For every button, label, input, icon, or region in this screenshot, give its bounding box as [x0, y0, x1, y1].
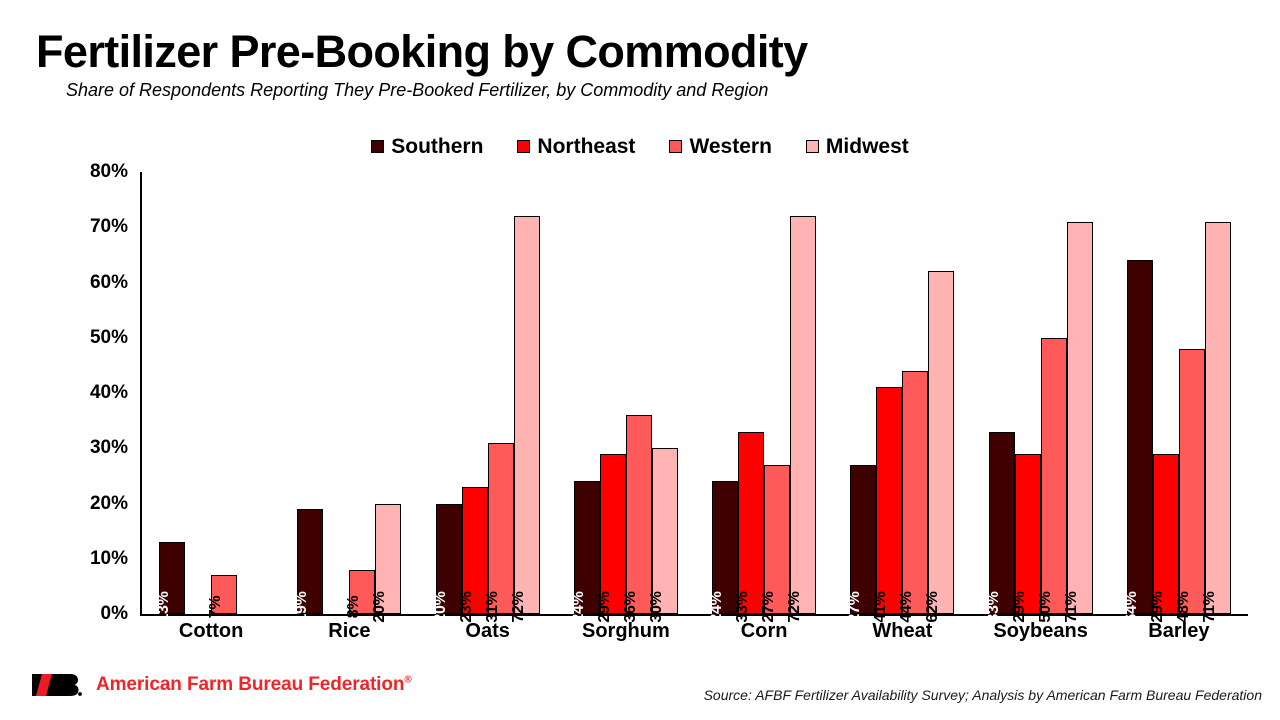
bar-barley-northeast[interactable]: 29% [1153, 454, 1179, 614]
registered-mark: ® [404, 675, 411, 686]
bar-slot: 27% [764, 172, 790, 614]
legend-item-midwest[interactable]: Midwest [806, 136, 909, 157]
y-axis-tick-label: 40% [90, 382, 128, 404]
bar-oats-western[interactable]: 31% [488, 443, 514, 614]
bar-slot: 33% [738, 172, 764, 614]
bar-soybeans-western[interactable]: 50% [1041, 338, 1067, 614]
bar-wheat-midwest[interactable]: 62% [928, 271, 954, 614]
bar-value-label: 64% [1124, 591, 1140, 622]
bar-slot: 62% [928, 172, 954, 614]
x-axis-tick-barley: Barley [1110, 620, 1248, 643]
bar-value-label: 24% [571, 591, 587, 622]
bar-value-label: 29% [1150, 591, 1166, 622]
x-axis-tick-wheat: Wheat [833, 620, 971, 643]
bar-slot: 24% [574, 172, 600, 614]
bar-slot: 29% [600, 172, 626, 614]
bar-barley-midwest[interactable]: 71% [1205, 222, 1231, 614]
bar-slot: 7% [211, 172, 237, 614]
bar-group-cotton: 13%7% [142, 172, 280, 614]
bar-slot: 19% [297, 172, 323, 614]
bar-value-label: 29% [1012, 591, 1028, 622]
x-axis-tick-cotton: Cotton [142, 620, 280, 643]
y-axis-tick-label: 20% [90, 493, 128, 515]
chart-subtitle: Share of Respondents Reporting They Pre-… [66, 80, 768, 101]
bar-soybeans-midwest[interactable]: 71% [1067, 222, 1093, 614]
legend-label: Northeast [537, 136, 635, 157]
x-axis: CottonRiceOatsSorghumCornWheatSoybeansBa… [142, 620, 1248, 643]
bar-slot: 71% [1205, 172, 1231, 614]
bar-value-label: 71% [1202, 591, 1218, 622]
x-axis-tick-soybeans: Soybeans [972, 620, 1110, 643]
source-note: Source: AFBF Fertilizer Availability Sur… [704, 687, 1262, 703]
bar-value-label: 50% [1038, 591, 1054, 622]
bar-group-barley: 64%29%48%71% [1110, 172, 1248, 614]
x-axis-tick-corn: Corn [695, 620, 833, 643]
bar-slot: 20% [375, 172, 401, 614]
y-axis-tick-label: 70% [90, 216, 128, 238]
legend-label: Southern [391, 136, 483, 157]
bar-slot: 44% [902, 172, 928, 614]
bar-group-corn: 24%33%27%72% [695, 172, 833, 614]
bar-group-rice: 19%8%20% [280, 172, 418, 614]
bar-slot: 64% [1127, 172, 1153, 614]
y-axis-tick-label: 0% [101, 603, 128, 625]
bar-value-label: 27% [847, 591, 863, 622]
legend-item-northeast[interactable]: Northeast [517, 136, 635, 157]
bar-value-label: 31% [485, 591, 501, 622]
bar-value-label: 7% [208, 596, 224, 619]
y-axis: 80%70%60%50%40%30%20%10%0% [0, 172, 140, 616]
bar-slot: 24% [712, 172, 738, 614]
y-axis-tick-label: 80% [90, 161, 128, 183]
bar-value-label: 71% [1064, 591, 1080, 622]
bar-soybeans-northeast[interactable]: 29% [1015, 454, 1041, 614]
bar-rice-southern[interactable]: 19% [297, 509, 323, 614]
bar-cotton-western[interactable]: 7% [211, 575, 237, 614]
chart-legend: SouthernNortheastWesternMidwest [0, 136, 1280, 157]
bar-slot: 71% [1067, 172, 1093, 614]
bar-soybeans-southern[interactable]: 33% [989, 432, 1015, 614]
legend-label: Midwest [826, 136, 909, 157]
legend-swatch-icon [517, 140, 530, 153]
bar-sorghum-western[interactable]: 36% [626, 415, 652, 614]
bar-value-label: 72% [787, 591, 803, 622]
bars-area: 13%7%19%8%20%20%23%31%72%24%29%36%30%24%… [142, 172, 1248, 614]
bar-rice-midwest[interactable]: 20% [375, 504, 401, 615]
legend-swatch-icon [669, 140, 682, 153]
bar-value-label: 72% [511, 591, 527, 622]
bar-slot: 33% [989, 172, 1015, 614]
bar-slot: 72% [790, 172, 816, 614]
x-axis-tick-rice: Rice [280, 620, 418, 643]
bar-barley-western[interactable]: 48% [1179, 349, 1205, 614]
afbf-brand: American Farm Bureau Federation® [30, 670, 412, 700]
bar-value-label: 20% [433, 591, 449, 622]
bar-slot: 31% [488, 172, 514, 614]
bar-corn-northeast[interactable]: 33% [738, 432, 764, 614]
bar-slot [237, 172, 263, 614]
bar-value-label: 41% [873, 591, 889, 622]
y-axis-tick-label: 30% [90, 437, 128, 459]
bar-value-label: 19% [294, 591, 310, 622]
bar-slot: 29% [1015, 172, 1041, 614]
bar-value-label: 30% [649, 591, 665, 622]
bar-group-wheat: 27%41%44%62% [833, 172, 971, 614]
legend-swatch-icon [806, 140, 819, 153]
bar-slot: 27% [850, 172, 876, 614]
bar-value-label: 27% [761, 591, 777, 622]
bar-value-label: 20% [372, 591, 388, 622]
bar-value-label: 23% [459, 591, 475, 622]
bar-value-label: 44% [899, 591, 915, 622]
legend-swatch-icon [371, 140, 384, 153]
bar-group-sorghum: 24%29%36%30% [557, 172, 695, 614]
bar-slot: 8% [349, 172, 375, 614]
bar-value-label: 48% [1176, 591, 1192, 622]
bar-corn-midwest[interactable]: 72% [790, 216, 816, 614]
chart-plot-area: 80%70%60%50%40%30%20%10%0% 13%7%19%8%20%… [0, 172, 1280, 622]
bar-slot: 13% [159, 172, 185, 614]
bar-oats-midwest[interactable]: 72% [514, 216, 540, 614]
x-axis-tick-oats: Oats [419, 620, 557, 643]
legend-label: Western [689, 136, 771, 157]
y-axis-tick-label: 50% [90, 327, 128, 349]
bar-value-label: 29% [597, 591, 613, 622]
bar-barley-southern[interactable]: 64% [1127, 260, 1153, 614]
chart-footer: American Farm Bureau Federation® Source:… [0, 662, 1280, 720]
bar-group-soybeans: 33%29%50%71% [972, 172, 1110, 614]
legend-item-western[interactable]: Western [669, 136, 771, 157]
brand-name: American Farm Bureau Federation® [96, 674, 412, 696]
bar-value-label: 62% [925, 591, 941, 622]
legend-item-southern[interactable]: Southern [371, 136, 483, 157]
brand-name-text: American Farm Bureau Federation [96, 674, 404, 695]
bar-slot: 29% [1153, 172, 1179, 614]
bar-sorghum-midwest[interactable]: 30% [652, 448, 678, 614]
bar-slot: 48% [1179, 172, 1205, 614]
bar-group-oats: 20%23%31%72% [419, 172, 557, 614]
bar-value-label: 33% [735, 591, 751, 622]
bar-slot: 72% [514, 172, 540, 614]
page-title: Fertilizer Pre-Booking by Commodity [36, 26, 808, 78]
bar-slot: 41% [876, 172, 902, 614]
afbf-logo-icon [30, 670, 82, 700]
bar-value-label: 24% [709, 591, 725, 622]
bar-wheat-northeast[interactable]: 41% [876, 387, 902, 614]
bar-slot [323, 172, 349, 614]
bar-slot: 20% [436, 172, 462, 614]
bar-slot: 36% [626, 172, 652, 614]
bar-value-label: 8% [346, 596, 362, 619]
bar-value-label: 33% [986, 591, 1002, 622]
y-axis-tick-label: 10% [90, 548, 128, 570]
bar-value-label: 36% [623, 591, 639, 622]
bar-cotton-southern[interactable]: 13% [159, 542, 185, 614]
y-axis-tick-label: 60% [90, 272, 128, 294]
bar-wheat-western[interactable]: 44% [902, 371, 928, 614]
bar-slot: 50% [1041, 172, 1067, 614]
x-axis-tick-sorghum: Sorghum [557, 620, 695, 643]
bar-value-label: 13% [156, 591, 172, 622]
bar-slot: 30% [652, 172, 678, 614]
bar-sorghum-northeast[interactable]: 29% [600, 454, 626, 614]
bar-slot [185, 172, 211, 614]
bar-slot: 23% [462, 172, 488, 614]
